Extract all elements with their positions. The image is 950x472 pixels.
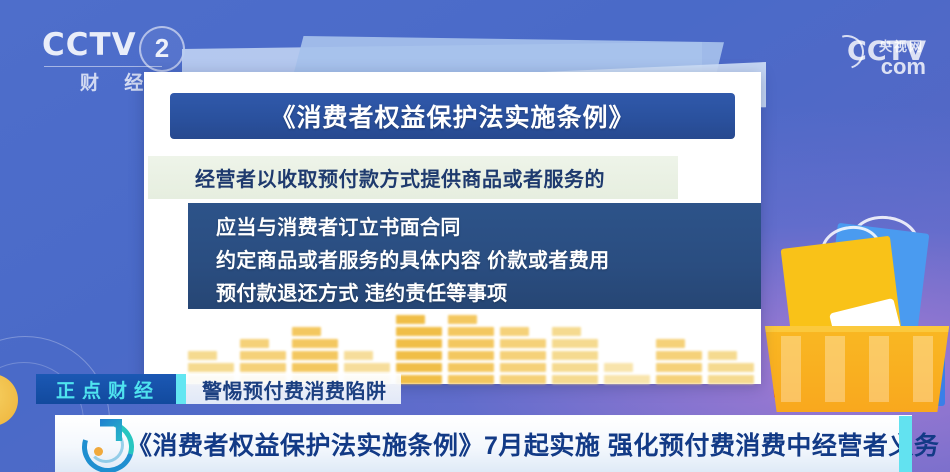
- bar-segment: [396, 375, 442, 384]
- ticker-end-cap: [899, 416, 912, 472]
- bar-segment: [188, 351, 217, 360]
- channel-bug-number: 2: [139, 26, 185, 72]
- bar-segment: [552, 363, 598, 372]
- card-title-banner: 《消费者权益保护法实施条例》: [170, 93, 735, 139]
- bar-segment: [708, 363, 754, 372]
- bar-group: [500, 327, 546, 384]
- broadcast-frame: CCTV 2 财 经 CCTV 央视网 com: [0, 0, 950, 472]
- bar-segment: [448, 351, 494, 360]
- info-card: 《消费者权益保护法实施条例》 经营者以收取预付款方式提供商品或者服务的 应当与消…: [144, 72, 761, 384]
- bar-group: [708, 351, 754, 384]
- bar-group: [448, 315, 494, 384]
- bar-segment: [448, 327, 494, 336]
- bar-segment: [552, 351, 598, 360]
- bar-segment: [500, 339, 546, 348]
- bar-segment: [708, 375, 754, 384]
- bar-segment: [188, 363, 234, 372]
- lower-third-accent: [176, 374, 186, 404]
- bar-segment: [500, 351, 546, 360]
- ticker-headline: 《消费者权益保护法实施条例》7月起实施 强化预付费消费中经营者义务: [127, 426, 939, 462]
- basket-body: [759, 326, 950, 412]
- lower-third: 正点财经 警惕预付费消费陷阱: [36, 374, 401, 404]
- station-swoosh-logo: [78, 417, 130, 469]
- bar-segment: [448, 315, 477, 324]
- bar-segment: [604, 375, 650, 384]
- bar-segment: [656, 375, 702, 384]
- card-body-panel: 应当与消费者订立书面合同 约定商品或者服务的具体内容 价款或者费用 预付款退还方…: [188, 203, 761, 309]
- topic-headline: 警惕预付费消费陷阱: [186, 374, 401, 404]
- card-body-line: 约定商品或者服务的具体内容 价款或者费用: [216, 246, 761, 277]
- bar-segment: [240, 351, 286, 360]
- bar-segment: [292, 327, 321, 336]
- basket-rib: [825, 336, 845, 402]
- program-name-badge: 正点财经: [36, 374, 176, 404]
- bar-segment: [500, 327, 529, 336]
- bar-segment: [500, 363, 546, 372]
- bar-segment: [240, 339, 269, 348]
- basket-rib: [869, 336, 889, 402]
- bar-segment: [396, 339, 442, 348]
- bar-segment: [448, 363, 494, 372]
- swoosh-dot-icon: [94, 447, 103, 456]
- news-ticker: 《消费者权益保护法实施条例》7月起实施 强化预付费消费中经营者义务: [55, 415, 912, 472]
- bar-segment: [344, 351, 373, 360]
- card-body-line: 应当与消费者订立书面合同: [216, 213, 761, 244]
- bar-segment: [396, 315, 425, 324]
- shopping-basket-illustration: [765, 208, 950, 418]
- bar-segment: [292, 351, 338, 360]
- bar-segment: [604, 363, 633, 372]
- bar-segment: [552, 339, 598, 348]
- card-subtitle-strip: 经营者以收取预付款方式提供商品或者服务的: [148, 156, 678, 199]
- card-body-line: 预付款退还方式 违约责任等事项: [216, 279, 761, 310]
- basket-rib: [781, 336, 801, 402]
- bar-segment: [552, 375, 598, 384]
- bar-segment: [292, 363, 338, 372]
- bar-segment: [656, 351, 702, 360]
- channel-bug-rule: [44, 66, 162, 67]
- bar-segment: [396, 351, 442, 360]
- cctv-com-chinese: 央视网: [879, 36, 924, 55]
- channel-bug-category: 财 经: [80, 68, 153, 95]
- bar-segment: [396, 363, 442, 372]
- bar-segment: [500, 375, 546, 384]
- card-subtitle-text: 经营者以收取预付款方式提供商品或者服务的: [195, 163, 605, 192]
- basket-rib: [913, 336, 933, 402]
- bar-group: [396, 315, 442, 384]
- cctv-com-logo: CCTV 央视网 com: [847, 38, 926, 84]
- bar-group: [656, 339, 702, 384]
- bar-group: [552, 327, 598, 384]
- bar-segment: [292, 339, 338, 348]
- bar-segment: [656, 339, 685, 348]
- bar-segment: [240, 363, 286, 372]
- bar-segment: [448, 339, 494, 348]
- cctv-com-suffix: com: [881, 54, 926, 80]
- bar-segment: [344, 363, 390, 372]
- bar-segment: [552, 327, 581, 336]
- bar-segment: [708, 351, 737, 360]
- bar-group: [604, 363, 650, 384]
- bar-segment: [396, 327, 442, 336]
- bar-segment: [656, 363, 702, 372]
- bar-segment: [448, 375, 494, 384]
